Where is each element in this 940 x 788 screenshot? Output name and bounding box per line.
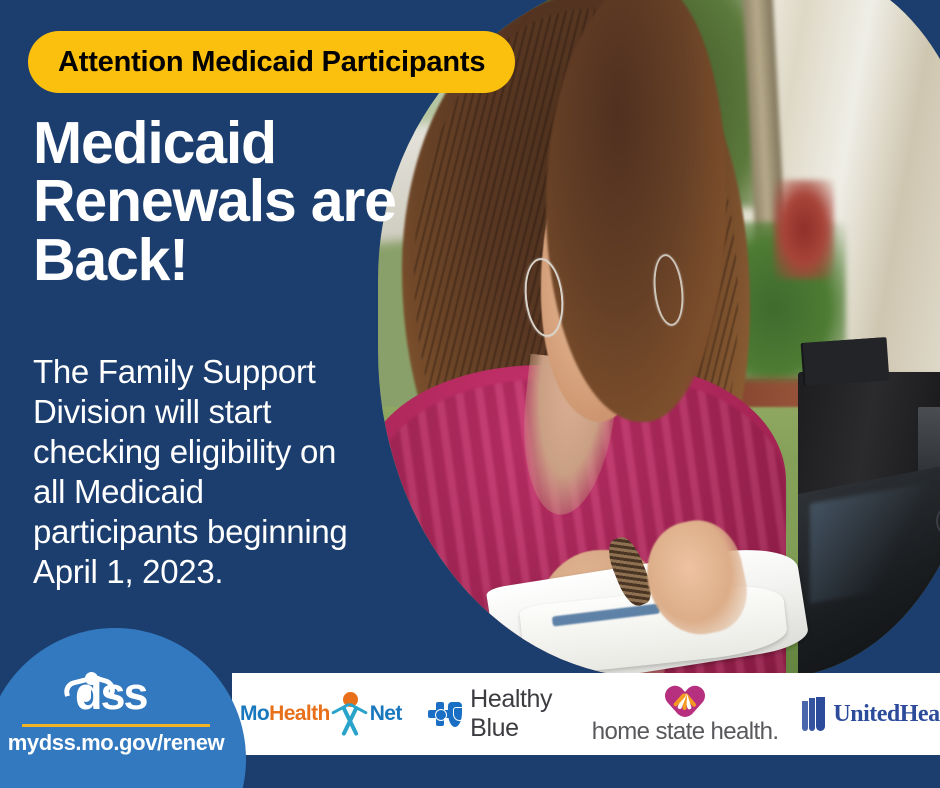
dss-divider (22, 724, 210, 727)
dss-wordmark: dss (75, 671, 147, 716)
body-line-3: checking eligibility on (33, 432, 423, 472)
attention-banner-label: Attention Medicaid Participants (58, 46, 485, 79)
body-line-2: Division will start (33, 392, 423, 432)
body-copy: The Family Support Division will start c… (33, 352, 423, 592)
photo-hair-front (546, 0, 726, 422)
attention-banner: Attention Medicaid Participants (28, 31, 515, 93)
unitedhealthcare-logo: UnitedHealthcare® (802, 697, 940, 731)
photo-mailbox-gloss (810, 482, 930, 603)
photo-scene (378, 0, 940, 678)
home-state-health-label: home state health. (592, 718, 779, 746)
unitedhealthcare-label-wrap: UnitedHealthcare® (833, 701, 940, 728)
body-line-4: all Medicaid (33, 472, 423, 512)
mohealthnet-net-text: Net (370, 702, 402, 726)
photo-mailbox-latch (918, 407, 940, 471)
burst-icon (675, 692, 695, 714)
heart-burst-icon (666, 683, 704, 717)
u-stripe-1 (802, 701, 808, 731)
photo-red-plant (774, 180, 834, 280)
headline-line-1: Medicaid (33, 114, 433, 172)
hero-photo (378, 0, 940, 678)
body-line-1: The Family Support (33, 352, 423, 392)
healthy-blue-label: Healthy Blue (470, 685, 566, 743)
dss-badge: dss mydss.mo.gov/renew (0, 672, 232, 756)
headline-line-2: Renewals are (33, 172, 433, 230)
unitedhealthcare-label: UnitedHealthcare (833, 701, 940, 727)
page-title: Medicaid Renewals are Back! (33, 114, 433, 289)
u-stripe-3 (816, 697, 825, 731)
dss-url[interactable]: mydss.mo.gov/renew (0, 730, 232, 756)
partner-logo-strip: Mo Health Net Healthy Blue (232, 673, 940, 755)
healthy-blue-logo: Healthy Blue (428, 685, 566, 743)
unitedhealthcare-u-icon (802, 697, 826, 731)
home-state-health-stack: home state health. (592, 683, 779, 746)
mohealthnet-health-text: Health (269, 702, 330, 726)
body-line-5: participants beginning (33, 512, 423, 552)
dss-logo: dss (41, 672, 191, 722)
blue-shield-icon (448, 702, 463, 727)
cross-center-ring (435, 709, 447, 721)
mohealthnet-mo-text: Mo (240, 702, 269, 726)
mohealthnet-logo: Mo Health Net (240, 691, 402, 737)
blue-cross-icon (428, 702, 445, 726)
headline-line-3: Back! (33, 231, 433, 289)
medicaid-renewal-poster: Attention Medicaid Participants Medicaid… (0, 0, 940, 788)
photo-mailbox-flag (803, 337, 890, 385)
mohealthnet-figure-icon (328, 691, 372, 737)
u-stripe-2 (809, 698, 815, 731)
body-line-6: April 1, 2023. (33, 552, 423, 592)
home-state-health-logo: home state health. (592, 683, 779, 746)
